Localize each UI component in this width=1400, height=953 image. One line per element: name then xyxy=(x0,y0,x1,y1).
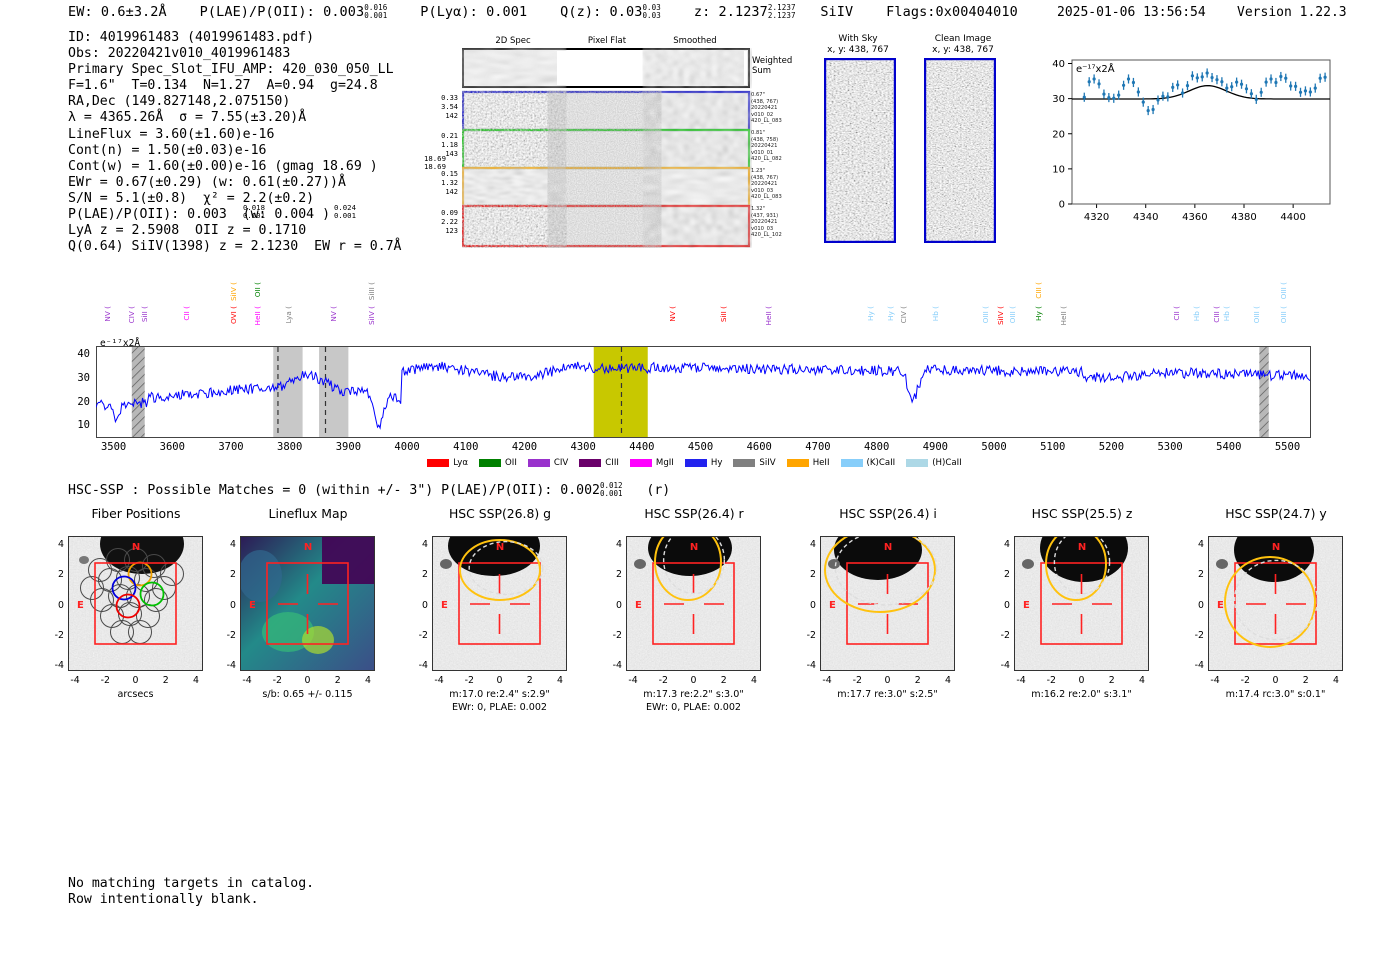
compass-north: N xyxy=(884,542,892,553)
legend-item-siiv: SiIV xyxy=(733,458,775,468)
panel-caption1-5: m:16.2 re:2.0" s:3.1" xyxy=(979,689,1184,701)
info-plae-errors: 0.018 0.001 xyxy=(243,204,265,220)
panel-6-ytick: 2 xyxy=(1184,569,1204,580)
line-label-text: SiII ( xyxy=(719,306,728,322)
spec2d-row-2 xyxy=(463,168,749,206)
line-zoom-plot: 01020304043204340436043804400e⁻¹⁷x2Å xyxy=(1030,42,1340,252)
panel-image-4[interactable]: NE xyxy=(820,536,955,671)
legend-label: MgII xyxy=(656,458,674,468)
panel-caption2-2: EWr: 0, PLAE: 0.002 xyxy=(397,702,602,714)
panel-1-ytick: 4 xyxy=(216,539,236,550)
header-plae-lo: 0.001 xyxy=(364,11,387,20)
header-plae-label: P(LAE)/P(OII): 0.003 xyxy=(200,4,365,20)
panel-4-xtick: -4 xyxy=(813,675,841,686)
panel-caption2-3: EWr: 0, PLAE: 0.002 xyxy=(591,702,796,714)
panel-4-ytick: -2 xyxy=(796,630,816,641)
legend-label: CIII xyxy=(605,458,619,468)
spec2d-header-smoothed: Smoothed xyxy=(660,36,730,46)
svg-text:0: 0 xyxy=(1059,200,1065,211)
panel-5-ytick: -2 xyxy=(990,630,1010,641)
legend-label: Hy xyxy=(711,458,723,468)
spec2d-row-0-meta-3: v010_02 xyxy=(751,112,797,119)
legend-item-hcaii: (H)CaII xyxy=(906,458,962,468)
compass-north: N xyxy=(1078,542,1086,553)
header-timestamp-version: 2025-01-06 13:56:54 Version 1.22.3 xyxy=(1057,5,1347,20)
panel-image-3[interactable]: NE xyxy=(626,536,761,671)
panel-5-xtick: -4 xyxy=(1007,675,1035,686)
line-label-text: OIII ( xyxy=(981,306,990,323)
spec2d-row-weighted-sum xyxy=(463,49,749,87)
hsc-ssp-sub: 0.001 xyxy=(600,489,623,498)
spec2d-row-0-meta-0: 0.67" xyxy=(751,92,797,99)
spec2d-header-2dspec: 2D Spec xyxy=(478,36,548,46)
panel-1-xtick: 0 xyxy=(294,675,322,686)
panel-4-xtick: 2 xyxy=(904,675,932,686)
panel-title-6: HSC SSP(24.7) y xyxy=(1186,506,1366,521)
line-label-text: NV ( xyxy=(103,306,112,322)
legend-item-oii: OII xyxy=(479,458,517,468)
panel-caption1-1: s/b: 0.65 +/- 0.115 xyxy=(205,689,410,701)
header-plya: P(Lyα): 0.001 xyxy=(420,4,527,20)
panel-4-ytick: -4 xyxy=(796,660,816,671)
panel-2-xtick: -4 xyxy=(425,675,453,686)
hsc-ssp-text-a: HSC-SSP : Possible Matches = 0 (within +… xyxy=(68,483,600,498)
spec2d-row-2-meta-2: 20220421 xyxy=(751,181,797,188)
panel-image-2[interactable]: NE xyxy=(432,536,567,671)
compass-east: E xyxy=(1217,600,1224,611)
svg-text:e⁻¹⁷x2Å: e⁻¹⁷x2Å xyxy=(1076,62,1115,75)
info-line-redshifts: LyA z = 2.5908 OII z = 0.1710 xyxy=(68,223,401,239)
line-label-text: OII ( xyxy=(253,282,262,297)
info-plae-w-lo: 0.001 xyxy=(334,212,356,220)
panel-0-ytick: -4 xyxy=(44,660,64,671)
line-label-text: CIV ( xyxy=(899,306,908,323)
spec2d-row-3-meta-1: (437, 931) xyxy=(751,213,797,220)
line-label-text: HeII ( xyxy=(1059,306,1068,325)
line-label-text: SiIV ( xyxy=(367,306,376,325)
legend-swatch xyxy=(787,459,809,467)
panel-3-ytick: 2 xyxy=(602,569,622,580)
line-label-text: OIII ( xyxy=(1252,306,1261,323)
legend-item-mgii: MgII xyxy=(630,458,674,468)
cutout-1-title: Clean Image x, y: 438, 767 xyxy=(918,34,1008,56)
panel-4-ytick: 0 xyxy=(796,600,816,611)
footer-line-2: Row intentionally blank. xyxy=(68,892,314,908)
spectrum-ytick: 40 xyxy=(62,348,90,360)
info-plae-lo: 0.001 xyxy=(243,212,265,220)
panel-0-ytick: 0 xyxy=(44,600,64,611)
panel-2-ytick: 2 xyxy=(408,569,428,580)
compass-east: E xyxy=(829,600,836,611)
panel-1-ytick: 2 xyxy=(216,569,236,580)
panel-5-xtick: 0 xyxy=(1068,675,1096,686)
spec2d-row-1-meta-1: (438, 758) xyxy=(751,137,797,144)
panel-1-xtick: -2 xyxy=(263,675,291,686)
panel-6-xtick: 2 xyxy=(1292,675,1320,686)
panel-title-5: HSC SSP(25.5) z xyxy=(992,506,1172,521)
compass-east: E xyxy=(1023,600,1030,611)
panel-5-ytick: 4 xyxy=(990,539,1010,550)
panel-1-ytick: -2 xyxy=(216,630,236,641)
spec2d-row-0-meta: 0.67" (438, 767) 20220421 v010_02 420_LL… xyxy=(751,92,797,125)
svg-text:4360: 4360 xyxy=(1182,212,1207,223)
spec2d-row-0-left-2: 142 xyxy=(428,112,458,121)
info-line-lineflux: LineFlux = 3.60(±1.60)e-16 xyxy=(68,127,401,143)
legend-item-civ: CIV xyxy=(528,458,568,468)
panel-4-xtick: 4 xyxy=(934,675,962,686)
legend-label: Lyα xyxy=(453,458,468,468)
info-line-seeing: F=1.6" T=0.134 N=1.27 A=0.94 g=24.8 xyxy=(68,78,401,94)
legend-label: HeII xyxy=(813,458,830,468)
legend-swatch xyxy=(479,459,501,467)
panel-2-ytick: -4 xyxy=(408,660,428,671)
spectrum-line-labels: SiIV (OII (SiIII (CIII (OIII (NV (CIV (S… xyxy=(0,282,1400,350)
panel-4-ytick: 2 xyxy=(796,569,816,580)
spec2d-row-3-meta-3: v010_03 xyxy=(751,226,797,233)
spec2d-row-3-meta-2: 20220421 xyxy=(751,219,797,226)
spectrum-ytick: 20 xyxy=(62,396,90,408)
spec2d-row-0-left-1: 3.54 xyxy=(428,103,458,112)
spec2d-row-2-meta-4: 420_LL_083 xyxy=(751,194,797,201)
panel-caption1-6: m:17.4 rc:3.0" s:0.1" xyxy=(1173,689,1378,701)
info-line-radec: RA,Dec (149.827148,2.075150) xyxy=(68,94,401,110)
spec2d-row-2-meta-0: 1.23" xyxy=(751,168,797,175)
cutout-with-sky-image xyxy=(824,58,896,243)
panel-0-ytick: 4 xyxy=(44,539,64,550)
panel-6-xtick: 4 xyxy=(1322,675,1350,686)
svg-text:4400: 4400 xyxy=(1280,212,1305,223)
cutout-0-title: With Sky x, y: 438, 767 xyxy=(818,34,898,56)
panel-caption1-2: m:17.0 re:2.4" s:2.9" xyxy=(397,689,602,701)
panel-3-xtick: -4 xyxy=(619,675,647,686)
line-label-text: Hb ( xyxy=(1222,306,1231,321)
hsc-ssp-summary-line: HSC-SSP : Possible Matches = 0 (within +… xyxy=(68,482,670,498)
panel-3-ytick: -2 xyxy=(602,630,622,641)
spec2d-row-2-meta-3: v010_03 xyxy=(751,188,797,195)
legend-item-ciii: CIII xyxy=(579,458,619,468)
panel-6-xtick: 0 xyxy=(1262,675,1290,686)
compass-east: E xyxy=(249,600,256,611)
spec2d-row-1-meta-2: 20220421 xyxy=(751,143,797,150)
line-label-text: SiIV ( xyxy=(996,306,1005,325)
svg-text:30: 30 xyxy=(1052,94,1065,105)
header-datetime: 2025-01-06 13:56:54 xyxy=(1057,5,1206,20)
spec2d-weighted-sum-label: WeightedSum xyxy=(752,56,792,76)
compass-north: N xyxy=(1272,542,1280,553)
svg-text:20: 20 xyxy=(1052,129,1065,140)
panel-5-ytick: 2 xyxy=(990,569,1010,580)
line-label-text: NV ( xyxy=(329,306,338,322)
panel-5-ytick: -4 xyxy=(990,660,1010,671)
panel-4-ytick: 4 xyxy=(796,539,816,550)
spec2d-montage xyxy=(462,48,752,253)
header-z-label: z: 2.1237 xyxy=(694,4,768,20)
cutout-clean-image xyxy=(924,58,996,243)
panel-6-ytick: -2 xyxy=(1184,630,1204,641)
cutout-1-subtitle: x, y: 438, 767 xyxy=(932,45,994,55)
panel-2-ytick: 0 xyxy=(408,600,428,611)
line-label-text: OVI ( xyxy=(229,306,238,324)
compass-east: E xyxy=(441,600,448,611)
info-line-obs: Obs: 20220421v010_4019961483 xyxy=(68,46,401,62)
spec2d-row-1-meta-4: 420_LL_082 xyxy=(751,156,797,163)
spec2d-row-3-left-0: 0.09 xyxy=(428,209,458,218)
spectrum-legend: LyαOIICIVCIIIMgIIHySiIVHeII(K)CaII(H)CaI… xyxy=(0,452,1400,471)
legend-swatch xyxy=(733,459,755,467)
legend-label: SiIV xyxy=(759,458,775,468)
spec2d-row-0-meta-2: 20220421 xyxy=(751,105,797,112)
header-z-lo: 2.1237 xyxy=(768,11,796,20)
info-line-primary-spec: Primary Spec_Slot_IFU_AMP: 420_030_050_L… xyxy=(68,62,401,78)
source-info-block: ID: 4019961483 (4019961483.pdf) Obs: 202… xyxy=(68,30,401,255)
line-label-text: Hy ( xyxy=(866,306,875,321)
line-label-text: SiIV ( xyxy=(229,282,238,301)
panel-1-xtick: 2 xyxy=(324,675,352,686)
line-label-text: CIV ( xyxy=(127,306,136,323)
legend-item-heii: HeII xyxy=(787,458,830,468)
legend-item-kcaii: (K)CaII xyxy=(841,458,896,468)
cutout-0-title-text: With Sky xyxy=(838,34,877,44)
line-label-text: SiII ( xyxy=(140,306,149,322)
spec2d-row-0-meta-4: 420_LL_083 xyxy=(751,118,797,125)
spec2d-row-0 xyxy=(463,92,749,130)
panel-3-ytick: 0 xyxy=(602,600,622,611)
legend-swatch xyxy=(427,459,449,467)
legend-item-lyα: Lyα xyxy=(427,458,468,468)
panel-title-2: HSC SSP(26.8) g xyxy=(410,506,590,521)
panel-6-xtick: -4 xyxy=(1201,675,1229,686)
panel-1-xtick: -4 xyxy=(233,675,261,686)
panel-0-xtick: 2 xyxy=(152,675,180,686)
image-panel-row: Fiber PositionsNE420-2-4-4-2024arcsecsLi… xyxy=(0,506,1400,721)
panel-caption1-4: m:17.7 re:3.0" s:2.5" xyxy=(785,689,990,701)
panel-5-xtick: -2 xyxy=(1037,675,1065,686)
info-line-cont-n: Cont(n) = 1.50(±0.03)e-16 xyxy=(68,143,401,159)
info-plae-w-errors: 0.024 0.001 xyxy=(334,204,356,220)
line-label-text: NV ( xyxy=(668,306,677,322)
spec2d-header-pixelflat: Pixel Flat xyxy=(572,36,642,46)
spec2d-row-2-meta-1: (438, 767) xyxy=(751,175,797,182)
line-label-text: Hy ( xyxy=(886,306,895,321)
legend-item-hy: Hy xyxy=(685,458,723,468)
cutout-1-title-text: Clean Image xyxy=(935,34,992,44)
line-label-text: OIII ( xyxy=(1279,282,1288,299)
panel-2-xtick: 4 xyxy=(546,675,574,686)
header-line-name: SiIV xyxy=(820,4,853,20)
spec2d-row-3-meta-4: 420_LL_102 xyxy=(751,232,797,239)
legend-swatch xyxy=(528,459,550,467)
compass-north: N xyxy=(496,542,504,553)
legend-swatch xyxy=(685,459,707,467)
spectrum-ytick: 10 xyxy=(62,419,90,431)
line-label-text: HeII ( xyxy=(764,306,773,325)
header-qz-label: Q(z): 0.03 xyxy=(560,4,642,20)
line-label-text: OIII ( xyxy=(1008,306,1017,323)
cutout-0-subtitle: x, y: 438, 767 xyxy=(827,45,889,55)
panel-5-xtick: 4 xyxy=(1128,675,1156,686)
hsc-ssp-text-b: (r) xyxy=(646,483,670,498)
panel-3-xtick: 4 xyxy=(740,675,768,686)
panel-5-ytick: 0 xyxy=(990,600,1010,611)
info-line-q: Q(0.64) SiIV(1398) z = 2.1230 EW r = 0.7… xyxy=(68,239,401,255)
spec2d-row-3-left-1: 2.22 xyxy=(428,218,458,227)
panel-title-0: Fiber Positions xyxy=(46,506,226,521)
panel-3-ytick: 4 xyxy=(602,539,622,550)
panel-caption1-3: m:17.3 re:2.2" s:3.0" xyxy=(591,689,796,701)
spec2d-row-0-meta-1: (438, 767) xyxy=(751,99,797,106)
line-label-text: CIII ( xyxy=(1212,306,1221,323)
panel-4-xtick: -2 xyxy=(843,675,871,686)
info-line-cont-w: Cont(w) = 1.60(±0.00)e-16 (gmag 18.69 ) xyxy=(68,159,401,175)
legend-label: CIV xyxy=(554,458,568,468)
panel-2-ytick: -2 xyxy=(408,630,428,641)
spec2d-row-2-left-0: 0.15 xyxy=(428,170,458,179)
panel-image-5[interactable]: NE xyxy=(1014,536,1149,671)
header-ew: EW: 0.6±3.2Å xyxy=(68,4,167,20)
full-spectrum-plot xyxy=(96,346,1311,438)
info-line-lambda: λ = 4365.26Å σ = 7.55(±3.20)Å xyxy=(68,110,401,126)
spec2d-row-1 xyxy=(463,130,749,168)
spec2d-row-1-meta: 0.81" (438, 758) 20220421 v010_01 420_LL… xyxy=(751,130,797,163)
panel-2-xtick: 0 xyxy=(486,675,514,686)
panel-6-ytick: 4 xyxy=(1184,539,1204,550)
line-label-text: SiIII ( xyxy=(367,282,376,300)
full-spectrum-flux-annotation: e⁻¹⁷x2Å xyxy=(100,338,140,349)
legend-label: OII xyxy=(505,458,517,468)
panel-6-xtick: -2 xyxy=(1231,675,1259,686)
spec2d-row-1-left-2: 143 xyxy=(428,150,458,159)
panel-0-xtick: -2 xyxy=(91,675,119,686)
line-label-text: HeII ( xyxy=(253,306,262,325)
spec2d-row-3-meta: 1.32" (437, 931) 20220421 v010_03 420_LL… xyxy=(751,206,797,239)
spec2d-row-2-left-2: 142 xyxy=(428,188,458,197)
line-label-text: CII ( xyxy=(1172,306,1181,321)
panel-title-3: HSC SSP(26.4) r xyxy=(604,506,784,521)
line-label-text: CIII ( xyxy=(1034,282,1043,299)
panel-0-xtick: 4 xyxy=(182,675,210,686)
panel-0-xtick: 0 xyxy=(122,675,150,686)
panel-1-xtick: 4 xyxy=(354,675,382,686)
compass-east: E xyxy=(77,600,84,611)
legend-swatch xyxy=(630,459,652,467)
panel-5-xtick: 2 xyxy=(1098,675,1126,686)
spectrum-ytick: 30 xyxy=(62,372,90,384)
line-label-text: OIII ( xyxy=(1279,306,1288,323)
header-qz-lo: 0.03 xyxy=(642,11,660,20)
legend-swatch xyxy=(579,459,601,467)
spec2d-row-2-meta: 1.23" (438, 767) 20220421 v010_03 420_LL… xyxy=(751,168,797,201)
panel-image-1[interactable]: NE xyxy=(240,536,375,671)
svg-text:4380: 4380 xyxy=(1231,212,1256,223)
panel-4-xtick: 0 xyxy=(874,675,902,686)
panel-6-ytick: -4 xyxy=(1184,660,1204,671)
panel-0-xtick: -4 xyxy=(61,675,89,686)
svg-text:10: 10 xyxy=(1052,164,1065,175)
panel-image-6[interactable]: NE xyxy=(1208,536,1343,671)
spec2d-row-2-left-1: 1.32 xyxy=(428,179,458,188)
footer-note: No matching targets in catalog. Row inte… xyxy=(68,876,314,908)
legend-swatch xyxy=(841,459,863,467)
info-line-ewr: EWr = 0.67(±0.29) (w: 0.61(±0.27))Å xyxy=(68,175,401,191)
svg-text:40: 40 xyxy=(1052,59,1065,70)
info-line-id: ID: 4019961483 (4019961483.pdf) xyxy=(68,30,401,46)
info-cont-w-text: Cont(w) = 1.60(±0.00)e-16 (gmag 18.69 ) xyxy=(68,159,378,174)
panel-3-xtick: 2 xyxy=(710,675,738,686)
panel-2-xtick: -2 xyxy=(455,675,483,686)
spec2d-row-1-left-0: 0.21 xyxy=(428,132,458,141)
spec2d-row-3-meta-0: 1.32" xyxy=(751,206,797,213)
line-label-text: Hb ( xyxy=(1192,306,1201,321)
spec2d-row-1-meta-0: 0.81" xyxy=(751,130,797,137)
compass-north: N xyxy=(304,542,312,553)
header-summary-line: EW: 0.6±3.2Å P(LAE)/P(OII): 0.0030.0160.… xyxy=(68,4,1018,20)
spec2d-row-3-left-2: 123 xyxy=(428,227,458,236)
panel-6-ytick: 0 xyxy=(1184,600,1204,611)
panel-2-xtick: 2 xyxy=(516,675,544,686)
panel-title-4: HSC SSP(26.4) i xyxy=(798,506,978,521)
header-version: Version 1.22.3 xyxy=(1237,5,1347,20)
compass-north: N xyxy=(690,542,698,553)
panel-3-xtick: 0 xyxy=(680,675,708,686)
legend-label: (K)CaII xyxy=(867,458,896,468)
svg-text:4340: 4340 xyxy=(1133,212,1158,223)
panel-1-ytick: -4 xyxy=(216,660,236,671)
compass-north: N xyxy=(132,542,140,553)
panel-image-0[interactable]: NE xyxy=(68,536,203,671)
line-label-text: Hb ( xyxy=(931,306,940,321)
legend-label: (H)CaII xyxy=(932,458,962,468)
spec2d-row-3 xyxy=(463,206,749,246)
panel-3-ytick: -4 xyxy=(602,660,622,671)
panel-0-ytick: 2 xyxy=(44,569,64,580)
panel-0-ytick: -2 xyxy=(44,630,64,641)
spec2d-row-0-left-0: 0.33 xyxy=(428,94,458,103)
spec2d-row-1-meta-3: v010_01 xyxy=(751,150,797,157)
svg-text:4320: 4320 xyxy=(1084,212,1109,223)
footer-line-1: No matching targets in catalog. xyxy=(68,876,314,892)
panel-1-ytick: 0 xyxy=(216,600,236,611)
panel-2-ytick: 4 xyxy=(408,539,428,550)
panel-title-1: Lineflux Map xyxy=(218,506,398,521)
line-label-text: CII ( xyxy=(182,306,191,321)
compass-east: E xyxy=(635,600,642,611)
line-label-text: Hy ( xyxy=(1034,306,1043,321)
header-flags: Flags:0x00404010 xyxy=(886,4,1018,20)
line-label-text: Lya ( xyxy=(284,306,293,323)
legend-swatch xyxy=(906,459,928,467)
panel-3-xtick: -2 xyxy=(649,675,677,686)
spec2d-row-1-left-1: 1.18 xyxy=(428,141,458,150)
